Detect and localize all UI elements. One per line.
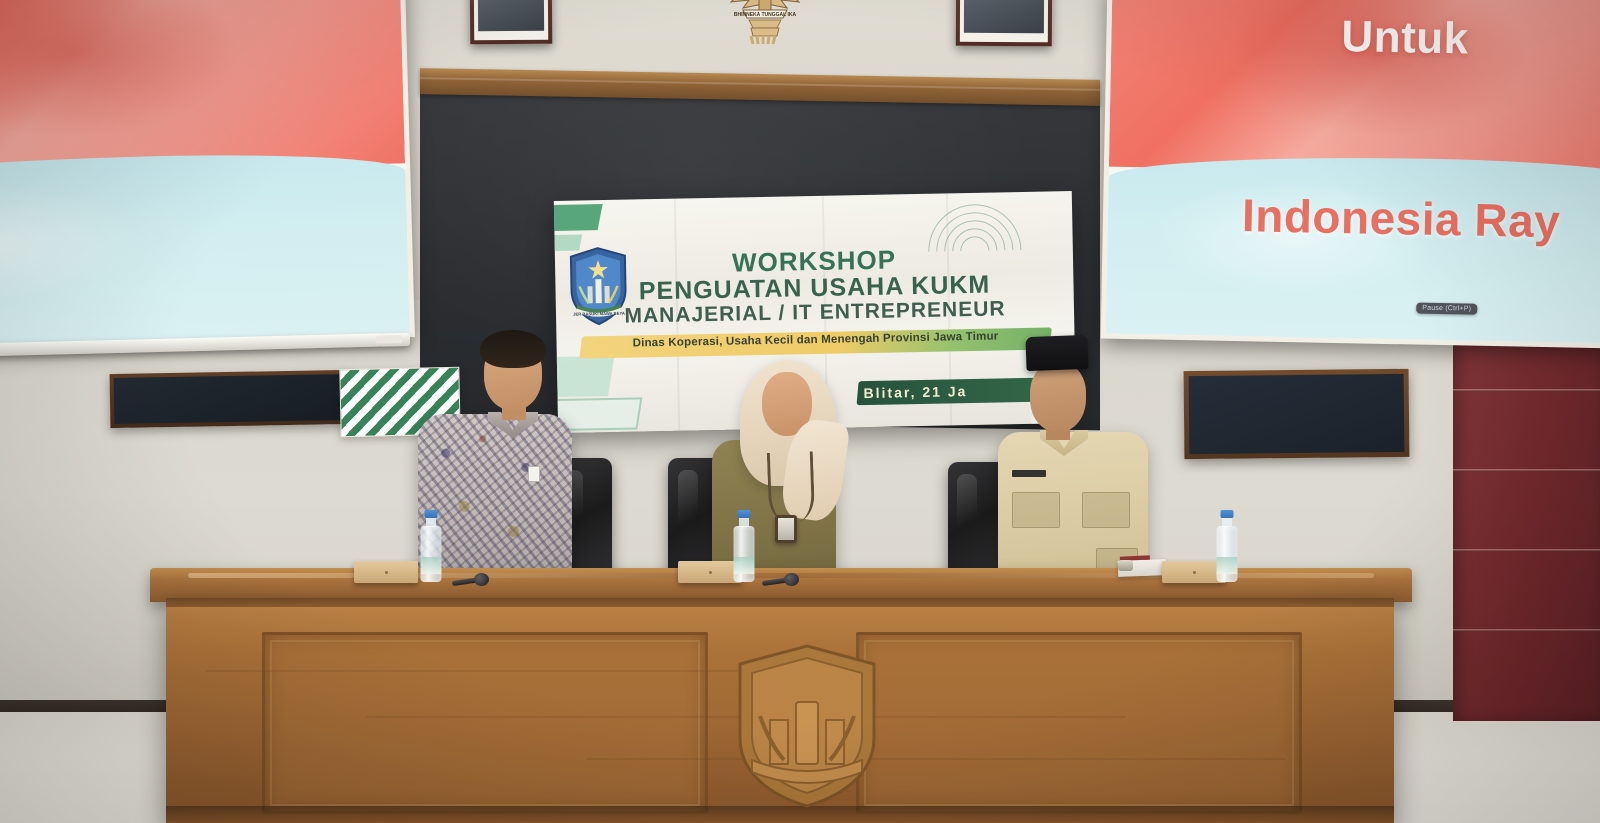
maroon-wall-panel <box>1453 341 1600 721</box>
wall-frame-right <box>1184 369 1410 459</box>
projection-screen-right: Untuk Indonesia Ray Pause (Ctrl+P) <box>1101 0 1600 349</box>
water-bottle <box>731 510 757 582</box>
portrait-right-caption <box>964 33 1044 35</box>
speaker-center-lanyard <box>767 451 815 523</box>
peci-cap <box>1025 335 1088 371</box>
framed-portrait-left <box>470 0 552 44</box>
screen-right-line2: Indonesia Ray <box>1241 188 1560 248</box>
pause-badge-right[interactable]: Pause (Ctrl+P) <box>1416 303 1477 315</box>
microphone <box>452 566 492 584</box>
portrait-left-caption <box>478 31 544 33</box>
speaker-left-hair <box>480 330 546 368</box>
speaker-right-pocket-right <box>1082 492 1130 528</box>
nameplate-stand <box>354 561 418 583</box>
speaker-right-name-tag <box>1012 470 1046 477</box>
wristwatch <box>1118 560 1133 571</box>
speaker-center-id-card <box>775 515 797 543</box>
microphone <box>762 566 802 584</box>
water-bottle <box>418 510 444 582</box>
projection-screen-left: ntuk esia Raya Pause (Ctrl+P) <box>0 0 415 355</box>
wall-frame-left <box>110 370 351 428</box>
speaker-right-pocket-left <box>1012 492 1060 528</box>
water-bottle <box>1214 510 1240 582</box>
framed-portrait-right <box>956 0 1052 46</box>
photo-scene: BHINNEKA TUNGGAL IKA ntuk esia Raya Paus… <box>0 0 1600 823</box>
screen-right-line1: Untuk <box>1341 12 1469 64</box>
garuda-pancasila-emblem: BHINNEKA TUNGGAL IKA <box>705 0 825 48</box>
speaker-left-name-badge <box>528 466 540 482</box>
emblem-motto-text: BHINNEKA TUNGGAL IKA <box>734 12 797 18</box>
speaker-right-head <box>1030 362 1086 432</box>
table-carved-crest <box>734 642 880 810</box>
